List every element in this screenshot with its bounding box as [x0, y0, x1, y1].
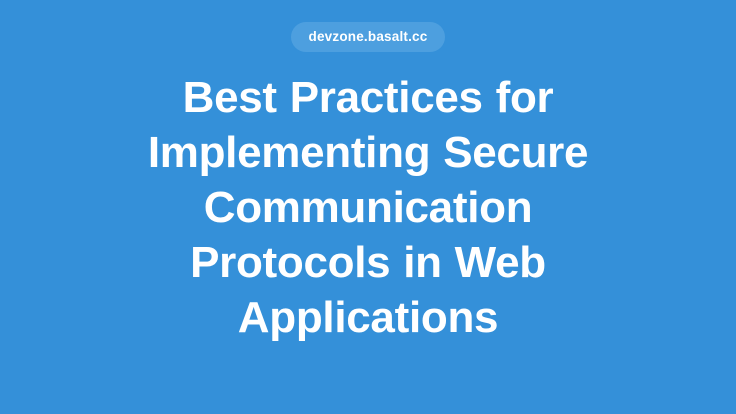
social-share-card: devzone.basalt.cc Best Practices for Imp…: [0, 0, 736, 414]
site-domain-badge: devzone.basalt.cc: [291, 22, 446, 52]
page-title: Best Practices for Implementing Secure C…: [128, 70, 608, 345]
headline-container: Best Practices for Implementing Secure C…: [128, 70, 608, 345]
